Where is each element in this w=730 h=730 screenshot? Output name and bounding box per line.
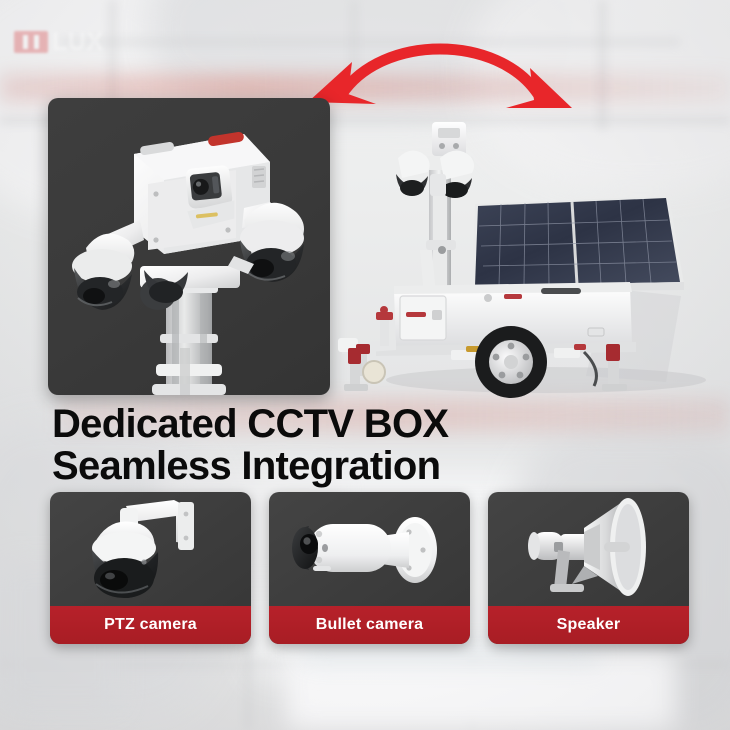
headline-line-2: Seamless Integration [52, 446, 692, 488]
product-card-speaker[interactable]: Speaker [488, 492, 689, 644]
product-card-list: PTZ camera [50, 492, 690, 644]
page-title: Dedicated CCTV BOX Seamless Integration [52, 404, 692, 487]
main-product-card [48, 98, 330, 395]
horn-speaker-image [488, 492, 689, 602]
logo-text: LUX [52, 28, 104, 57]
card-label-ptz-camera: PTZ camera [104, 616, 197, 634]
cctv-box-image [48, 98, 330, 395]
product-card-ptz-camera[interactable]: PTZ camera [50, 492, 251, 644]
card-caption-bar: Bullet camera [269, 606, 470, 644]
card-label-speaker: Speaker [557, 616, 621, 634]
card-label-bullet-camera: Bullet camera [316, 616, 424, 634]
brand-logo: LUX [14, 28, 104, 56]
marketing-banner: LUX [0, 0, 730, 730]
solar-surveillance-trailer-image [336, 100, 726, 400]
logo-mark-icon [14, 31, 48, 53]
card-caption-bar: PTZ camera [50, 606, 251, 644]
ptz-dome-camera-image [50, 492, 251, 602]
bullet-camera-image [269, 492, 470, 602]
card-caption-bar: Speaker [488, 606, 689, 644]
product-card-bullet-camera[interactable]: Bullet camera [269, 492, 470, 644]
headline-line-1: Dedicated CCTV BOX [52, 402, 448, 446]
